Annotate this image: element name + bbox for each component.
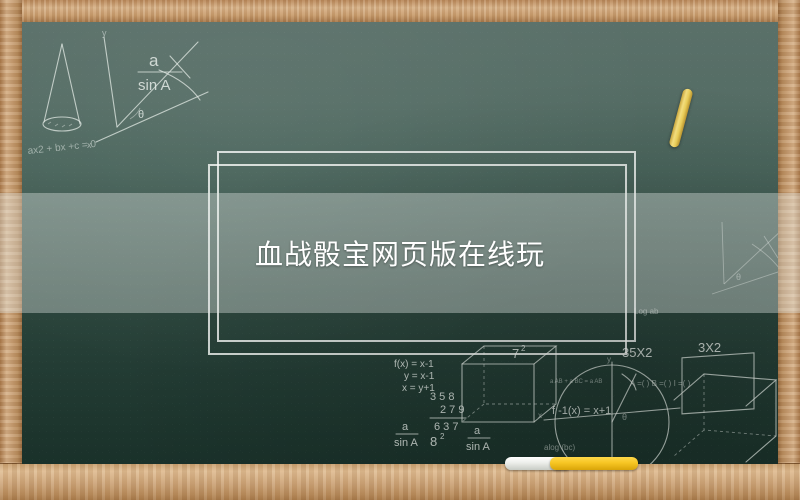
frame-bottom-tray bbox=[0, 463, 800, 500]
fraction-a-1: a bbox=[402, 421, 409, 433]
cone-fraction-numerator: a bbox=[149, 51, 159, 70]
cone-fraction-denominator: sin A bbox=[138, 77, 171, 94]
yellow-chalk-stick-tray bbox=[550, 457, 638, 470]
circle-angle-label: θ bbox=[622, 412, 627, 422]
exponent-eight: 8 bbox=[430, 434, 437, 449]
triangle-identity: a AB + a BC = a AB bbox=[550, 379, 602, 385]
subtraction-line-2: 2 7 9 bbox=[440, 404, 464, 416]
cone-drawing bbox=[43, 44, 81, 131]
fraction-sina-1: sin A bbox=[394, 437, 419, 449]
page-title: 血战骰宝网页版在线玩 bbox=[0, 193, 800, 313]
frame-top-rail bbox=[0, 0, 800, 23]
axis-label-y-left: y bbox=[102, 28, 107, 38]
subtraction-line-1: 3 5 8 bbox=[430, 391, 454, 403]
fraction-a-2: a bbox=[474, 425, 481, 437]
fraction-sina-2: sin A bbox=[466, 441, 491, 453]
multiplication-3x2: 3X2 bbox=[698, 340, 721, 355]
circle-axis-y: y bbox=[607, 355, 611, 364]
cube-drawing-right bbox=[674, 353, 776, 462]
function-line-2: y = x-1 bbox=[404, 371, 435, 382]
angle-label-left: θ bbox=[138, 109, 144, 121]
exponent-eight-sup: 2 bbox=[440, 432, 445, 441]
subtraction-line-3: 6 3 7 bbox=[434, 421, 458, 433]
circle-axis-x: x bbox=[538, 411, 542, 420]
chalkboard-banner: a sin A y x θ ax2 + bx +c = 0 f(x) = x-1… bbox=[0, 0, 800, 500]
function-line-1: f(x) = x-1 bbox=[394, 359, 434, 370]
quadratic-equation: ax2 + bx +c = 0 bbox=[27, 139, 97, 157]
